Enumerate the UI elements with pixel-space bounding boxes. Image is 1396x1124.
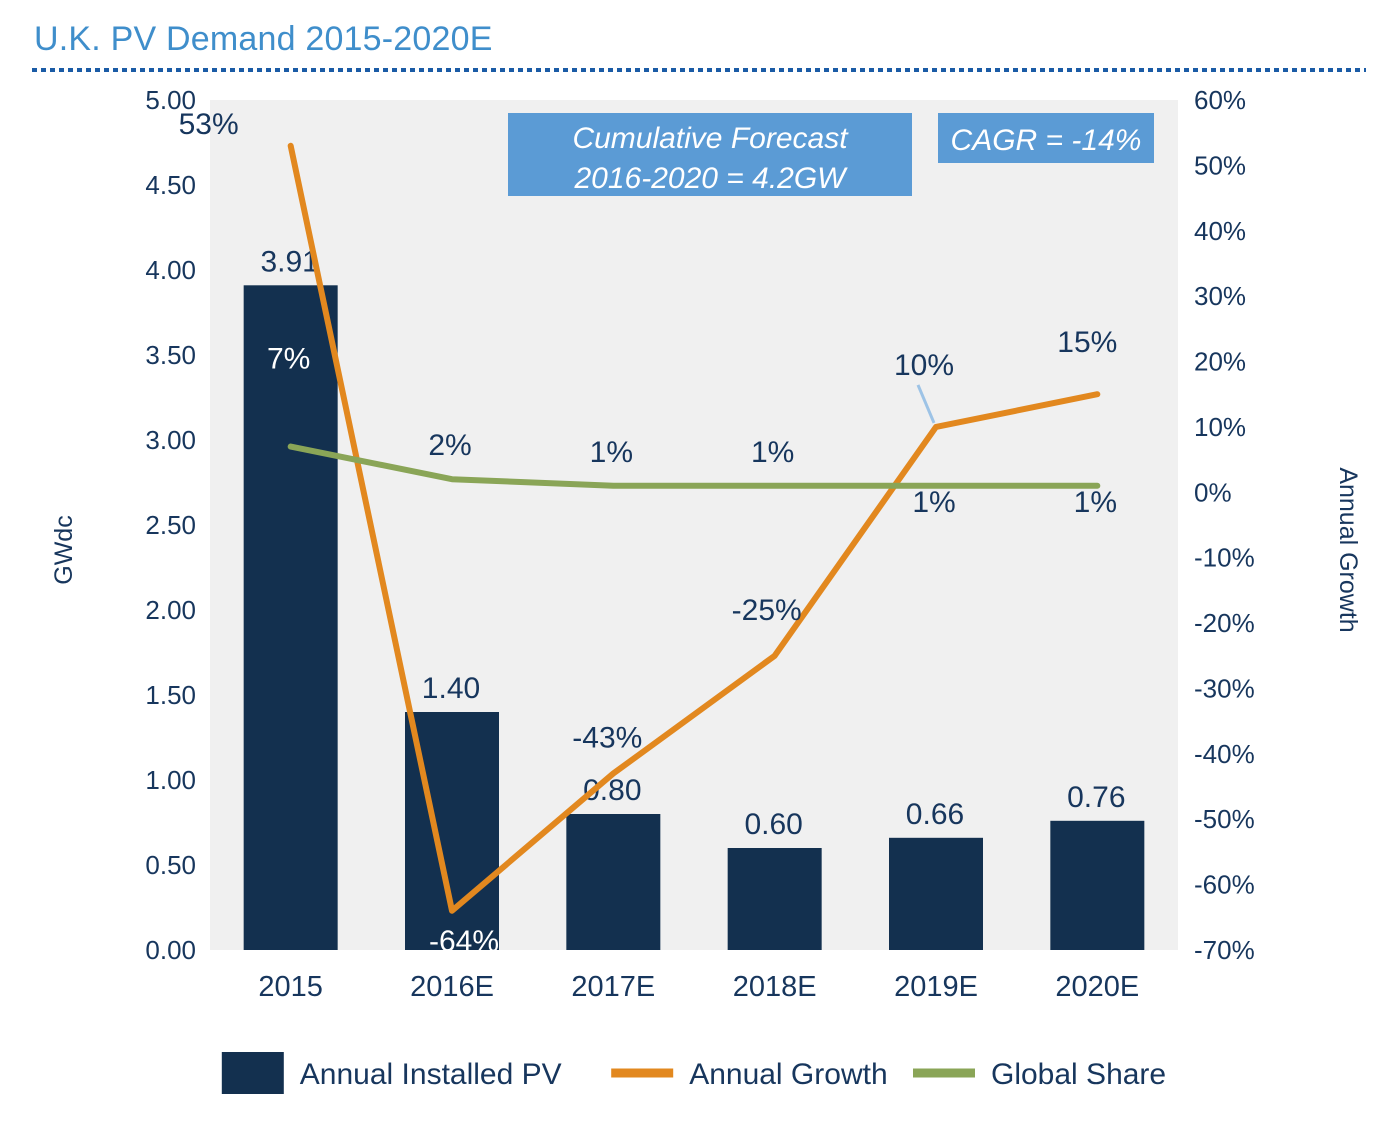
left-axis-tick: 4.00 bbox=[145, 255, 196, 285]
left-axis-tick: 2.00 bbox=[145, 595, 196, 625]
cumulative-forecast-callout: Cumulative Forecast 2016-2020 = 4.2GW bbox=[508, 113, 912, 196]
left-axis-tick: 4.50 bbox=[145, 170, 196, 200]
category-label-2018E: 2018E bbox=[733, 971, 817, 1003]
right-axis-tick: -60% bbox=[1194, 870, 1255, 900]
bar-value-2016E: 1.40 bbox=[422, 672, 480, 705]
bar-value-2020E: 0.76 bbox=[1067, 781, 1125, 814]
legend-marker-0 bbox=[222, 1052, 284, 1094]
legend-label-1: Annual Growth bbox=[689, 1058, 887, 1091]
right-axis-tick: 30% bbox=[1194, 281, 1246, 311]
category-axis-labels: 20152016E2017E2018E2019E2020E bbox=[258, 971, 1139, 1003]
cagr-value: CAGR = -14% bbox=[951, 124, 1142, 157]
left-axis-tick: 0.00 bbox=[145, 935, 196, 965]
right-axis-title: Annual Growth bbox=[1334, 467, 1362, 632]
right-axis-tick: -20% bbox=[1194, 608, 1255, 638]
bar-value-2019E: 0.66 bbox=[906, 798, 964, 831]
bar-value-2018E: 0.60 bbox=[744, 808, 802, 841]
page-title: U.K. PV Demand 2015-2020E bbox=[34, 20, 493, 59]
left-axis-tick: 3.00 bbox=[145, 425, 196, 455]
legend-label-0: Annual Installed PV bbox=[300, 1058, 562, 1091]
growth-label-2020E: 15% bbox=[1057, 326, 1117, 359]
right-axis-tick: 0% bbox=[1194, 477, 1232, 507]
cumulative-forecast-line1: Cumulative Forecast bbox=[572, 122, 849, 155]
right-axis-tick: -10% bbox=[1194, 543, 1255, 573]
chart-legend: Annual Installed PVAnnual GrowthGlobal S… bbox=[222, 1052, 1166, 1094]
share-label-2020E: 1% bbox=[1074, 486, 1117, 519]
right-axis-tick: 60% bbox=[1194, 85, 1246, 115]
category-label-2015: 2015 bbox=[258, 971, 323, 1003]
share-label-2017E: 1% bbox=[590, 436, 633, 469]
right-axis-tick-labels: -70%-60%-50%-40%-30%-20%-10%0%10%20%30%4… bbox=[1194, 85, 1255, 965]
bar-2015[interactable] bbox=[244, 285, 338, 950]
legend-label-2: Global Share bbox=[991, 1058, 1166, 1091]
cumulative-forecast-line2: 2016-2020 = 4.2GW bbox=[573, 162, 848, 195]
bar-2018E[interactable] bbox=[728, 848, 822, 950]
bar-2017E[interactable] bbox=[566, 814, 660, 950]
category-label-2016E: 2016E bbox=[410, 971, 494, 1003]
right-axis-tick: 10% bbox=[1194, 412, 1246, 442]
right-axis-tick: 40% bbox=[1194, 216, 1246, 246]
growth-label-2015: 53% bbox=[179, 108, 239, 141]
right-axis-tick: 50% bbox=[1194, 150, 1246, 180]
cagr-callout: CAGR = -14% bbox=[938, 113, 1154, 163]
growth-label-2019E: 10% bbox=[894, 349, 954, 382]
left-axis-title: GWdc bbox=[50, 515, 78, 584]
left-axis-tick-labels: 0.000.501.001.502.002.503.003.504.004.50… bbox=[145, 85, 196, 965]
right-axis-tick: -30% bbox=[1194, 673, 1255, 703]
left-axis-tick: 0.50 bbox=[145, 850, 196, 880]
slide-root: U.K. PV Demand 2015-2020E 0.000.501.001.… bbox=[0, 0, 1396, 1124]
pv-demand-chart: 0.000.501.001.502.002.503.003.504.004.50… bbox=[0, 80, 1396, 1124]
left-axis-tick: 3.50 bbox=[145, 340, 196, 370]
share-label-2018E: 1% bbox=[751, 436, 794, 469]
growth-label-2018E: -25% bbox=[732, 594, 802, 627]
bar-2019E[interactable] bbox=[889, 838, 983, 950]
right-axis-tick: -50% bbox=[1194, 804, 1255, 834]
left-axis-tick: 1.50 bbox=[145, 680, 196, 710]
right-axis-tick: -40% bbox=[1194, 739, 1255, 769]
left-axis-tick: 2.50 bbox=[145, 510, 196, 540]
right-axis-tick: -70% bbox=[1194, 935, 1255, 965]
left-axis-tick: 1.00 bbox=[145, 765, 196, 795]
growth-label-2017E: -43% bbox=[572, 721, 642, 754]
share-label-2019E: 1% bbox=[912, 486, 955, 519]
category-label-2019E: 2019E bbox=[894, 971, 978, 1003]
share-label-2016E: 2% bbox=[428, 429, 471, 462]
right-axis-tick: 20% bbox=[1194, 347, 1246, 377]
growth-label-2016E: -64% bbox=[429, 925, 499, 958]
category-label-2020E: 2020E bbox=[1055, 971, 1139, 1003]
title-divider bbox=[32, 68, 1366, 72]
category-label-2017E: 2017E bbox=[571, 971, 655, 1003]
bar-2020E[interactable] bbox=[1050, 821, 1144, 950]
share-label-2015: 7% bbox=[267, 343, 310, 376]
plot-area-background bbox=[210, 100, 1178, 950]
